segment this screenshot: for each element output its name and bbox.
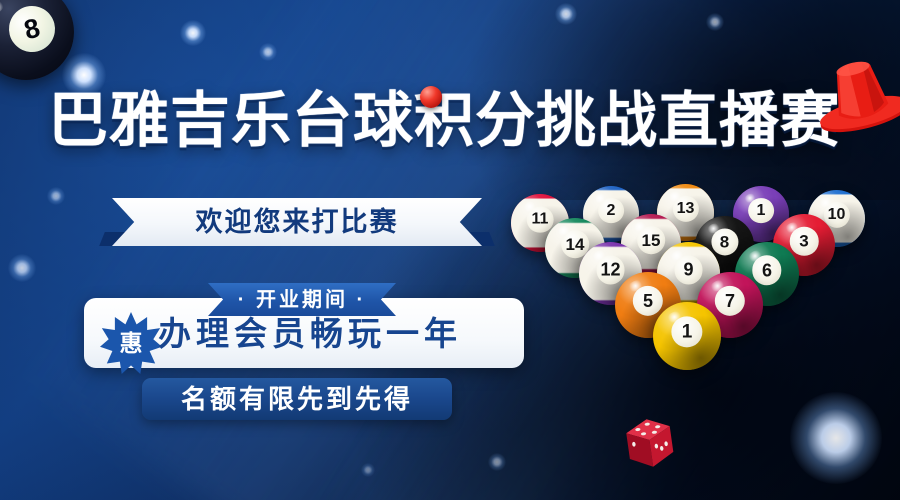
page-title: 巴雅吉乐台球积分挑战直播赛 bbox=[48, 86, 868, 156]
discount-badge-char: 惠 bbox=[100, 312, 162, 374]
ball-number: 1 bbox=[748, 198, 774, 224]
billiard-ball-rack: 112131101415831296571 bbox=[505, 180, 900, 380]
glow-particle bbox=[259, 43, 277, 61]
glow-particle bbox=[47, 187, 65, 205]
promo-headline: 办理会员畅玩一年 bbox=[158, 298, 508, 368]
glow-particle bbox=[555, 3, 577, 25]
welcome-ribbon-label: 欢迎您来打比赛 bbox=[196, 209, 399, 236]
glow-particle bbox=[790, 392, 882, 484]
glow-particle bbox=[8, 254, 36, 282]
red-die bbox=[622, 415, 678, 473]
glow-particle bbox=[706, 13, 724, 31]
glow-particle bbox=[361, 463, 375, 477]
glow-particle bbox=[180, 20, 206, 46]
eight-ball-logo: 8 bbox=[0, 0, 74, 80]
ball-number: 2 bbox=[598, 198, 624, 224]
eight-ball-highlight bbox=[0, 0, 6, 16]
eight-ball-number: 8 bbox=[4, 1, 60, 57]
billiard-ball-1: 1 bbox=[653, 302, 721, 370]
glow-particle bbox=[488, 453, 506, 471]
discount-starburst-badge: 惠 bbox=[100, 312, 162, 374]
welcome-ribbon: 欢迎您来打比赛 bbox=[112, 198, 482, 246]
promo-banner: 8 巴雅吉乐台球积分挑战直播赛 欢迎您来打比赛 惠 · 开业期间 · 办理会员畅… bbox=[0, 0, 900, 500]
red-ball-accent-icon bbox=[420, 86, 442, 108]
limited-quota-bar: 名额有限先到先得 bbox=[142, 378, 452, 420]
